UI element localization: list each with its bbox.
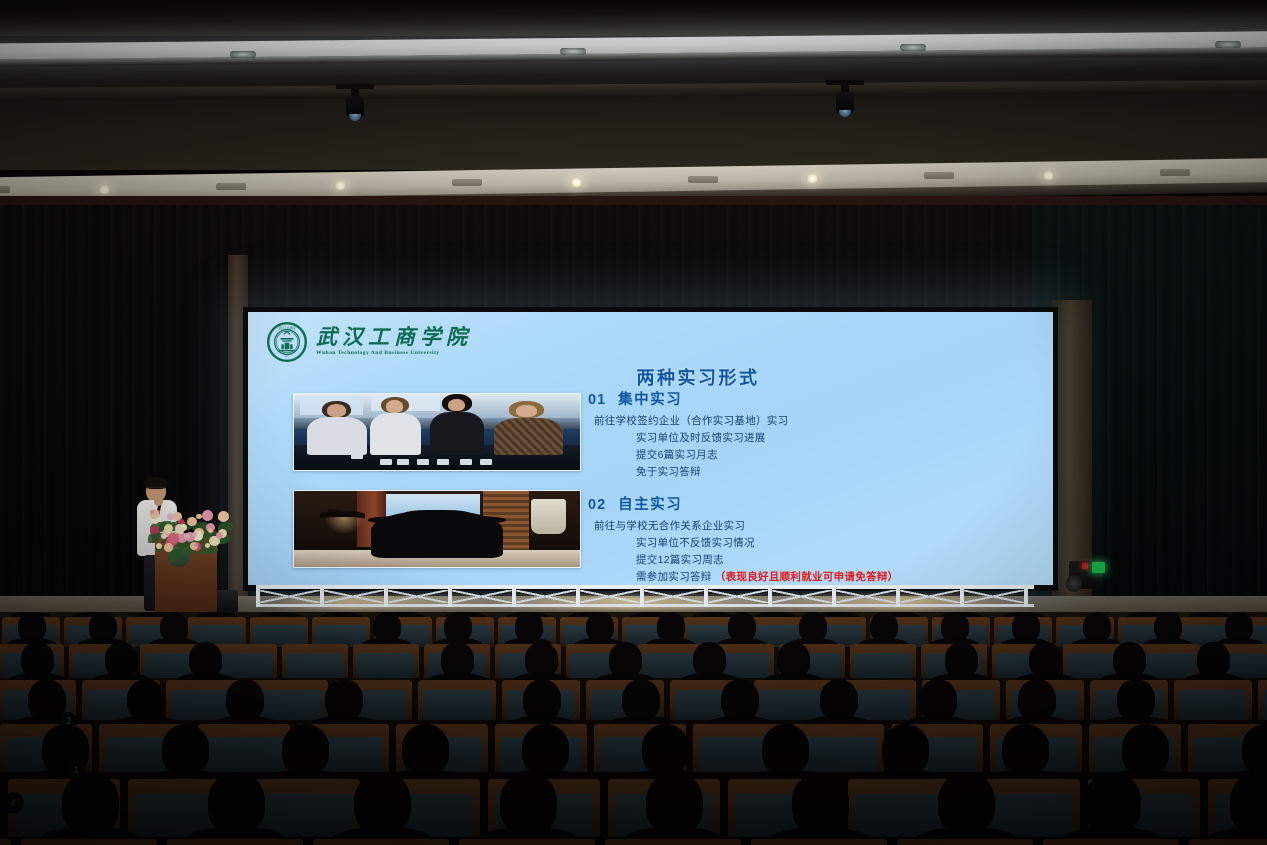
ceiling-vent	[688, 176, 718, 183]
audience-member-head	[21, 642, 54, 677]
audience-member-head	[162, 724, 209, 774]
projection-screen-frame: 武汉工商学院 1927 武汉工商学院 Wuhan Technology And …	[243, 307, 1058, 591]
audience-member-head	[354, 772, 411, 833]
audience-seat	[605, 839, 741, 845]
audience-member-head	[622, 679, 661, 720]
flower-blossom	[187, 517, 197, 527]
truss-brace	[834, 590, 896, 603]
audience-member-head	[777, 642, 810, 677]
audience-member-head	[522, 724, 569, 774]
audience-seat	[313, 839, 449, 845]
audience-member-head	[919, 679, 958, 720]
section-line: 免于实习答辩	[588, 464, 1045, 481]
flower-arrangement	[147, 505, 227, 553]
audience-member-head	[799, 612, 827, 641]
logo-cn-name: 武汉工商学院	[316, 327, 472, 348]
audience-member-head	[938, 772, 995, 833]
line-text: 需参加实习答辩	[636, 571, 712, 583]
line-text: 前往与学校无合作关系企业实习	[594, 520, 745, 532]
ceiling-recessed-light-icon	[230, 51, 256, 58]
section-line: 前往与学校无合作关系企业实习	[588, 518, 1045, 535]
section-line: 提交12篇实习周志	[588, 552, 1045, 569]
downlight-icon	[98, 185, 111, 194]
line-text: 前往学校签约企业（合作实习基地）实习	[594, 415, 788, 427]
audience-member-head	[728, 612, 756, 641]
slide-photo-desk	[293, 490, 581, 568]
section-line: 需参加实习答辩 （表现良好且顺利就业可申请免答辩）	[588, 569, 1045, 585]
audience-member-head	[282, 724, 329, 774]
glasses-icon	[147, 487, 165, 491]
audience-member-head	[1012, 612, 1040, 641]
slide-photo-students	[293, 393, 581, 471]
audience-member-head	[1117, 679, 1156, 720]
ceiling-mid-band	[0, 58, 1267, 170]
audience-member-head	[945, 642, 978, 677]
ceiling-recessed-light-icon	[560, 48, 586, 55]
flower-blossom	[164, 543, 172, 551]
slide-section: 01集中实习前往学校签约企业（合作实习基地）实习实习单位及时反馈实习进展提交6篇…	[588, 388, 1045, 481]
section-line: 前往学校签约企业（合作实习基地）实习	[588, 413, 1045, 430]
audience-member-head	[941, 612, 969, 641]
truss-brace	[322, 590, 384, 603]
section-number: 02	[588, 497, 606, 513]
audience-seat	[897, 839, 1033, 845]
audience-area: 214	[0, 612, 1267, 845]
truss-brace	[514, 590, 576, 603]
audience-member-head	[882, 724, 929, 774]
truss-post	[1024, 585, 1028, 607]
flower-blossom	[205, 543, 210, 548]
audience-seat	[167, 839, 303, 845]
audience-member-head	[441, 642, 474, 677]
spotlight-icon	[826, 80, 864, 120]
ceiling-recessed-light-icon	[900, 44, 926, 51]
ceiling-vent	[0, 186, 10, 193]
seat-number-badge: 4	[2, 792, 24, 814]
audience-member-head	[1122, 724, 1169, 774]
slide-title: 两种实习形式	[248, 364, 1053, 390]
audience-seat	[0, 839, 11, 845]
audience-member-head	[1225, 612, 1253, 641]
audience-member-head	[89, 612, 117, 641]
university-crest-icon: 武汉工商学院 1927	[267, 322, 307, 362]
seat-number-badge: 1	[66, 760, 86, 780]
audience-member-head	[792, 772, 849, 833]
truss-brace	[642, 590, 704, 603]
truss-brace	[898, 590, 960, 603]
audience-member-head	[762, 724, 809, 774]
flower-blossom	[196, 514, 201, 519]
line-text: 提交6篇实习月志	[636, 449, 718, 461]
truss-brace	[258, 590, 320, 603]
audience-member-head	[1029, 642, 1062, 677]
audience-member-head	[609, 642, 642, 677]
audience-member-head	[373, 612, 401, 641]
line-text: 提交12篇实习周志	[636, 554, 724, 566]
audience-member-head	[1084, 772, 1141, 833]
truss-brace	[578, 590, 640, 603]
audience-member-head	[325, 679, 364, 720]
audience-seat	[1043, 839, 1179, 845]
flower-blossom	[177, 526, 184, 533]
projection-screen: 武汉工商学院 1927 武汉工商学院 Wuhan Technology And …	[248, 312, 1053, 585]
audience-member-head	[127, 679, 166, 720]
audience-member-head	[500, 772, 557, 833]
truss-brace	[450, 590, 512, 603]
audience-member-head	[870, 612, 898, 641]
audience-member-head	[1113, 642, 1146, 677]
svg-text:1927: 1927	[285, 355, 291, 358]
line-text: 实习单位及时反馈实习进展	[636, 432, 766, 444]
auditorium-scene: 武汉工商学院 1927 武汉工商学院 Wuhan Technology And …	[0, 0, 1267, 845]
ceiling-vent	[216, 183, 246, 190]
audience-member-head	[657, 612, 685, 641]
truss-brace	[962, 590, 1024, 603]
section-header: 02自主实习	[588, 493, 1045, 514]
svg-text:武汉工商学院: 武汉工商学院	[279, 326, 296, 330]
audience-member-head	[28, 679, 67, 720]
audience-seat	[751, 839, 887, 845]
equipment-led-icon	[1082, 563, 1088, 569]
section-name: 集中实习	[618, 388, 682, 409]
audience-member-head	[642, 724, 689, 774]
audience-member-head	[18, 612, 46, 641]
slide-content: 01集中实习前往学校签约企业（合作实习基地）实习实习单位及时反馈实习进展提交6篇…	[588, 388, 1045, 585]
audience-seat	[21, 839, 157, 845]
flower-blossom	[202, 510, 213, 521]
flower-blossom	[168, 533, 178, 543]
downlight-icon	[1042, 171, 1055, 180]
flower-blossom	[184, 533, 190, 539]
audience-row	[0, 818, 1267, 845]
audience-member-head	[523, 679, 562, 720]
university-logo: 武汉工商学院 1927 武汉工商学院 Wuhan Technology And …	[267, 322, 472, 362]
section-header: 01集中实习	[588, 388, 1045, 409]
section-line: 实习单位及时反馈实习进展	[588, 430, 1045, 447]
wall-panel-right	[1052, 300, 1092, 600]
section-name: 自主实习	[618, 493, 682, 514]
line-highlight: （表现良好且顺利就业可申请免答辩）	[712, 571, 899, 583]
ceiling-dark-band	[0, 0, 1267, 36]
section-lines: 前往与学校无合作关系企业实习实习单位不反馈实习情况提交12篇实习周志需参加实习答…	[588, 518, 1045, 585]
section-lines: 前往学校签约企业（合作实习基地）实习实习单位及时反馈实习进展提交6篇实习月志免于…	[588, 413, 1045, 481]
flower-blossom	[164, 524, 173, 533]
audience-member-head	[586, 612, 614, 641]
truss-brace	[706, 590, 768, 603]
audience-member-head	[721, 679, 760, 720]
seat-number-badge: 2	[60, 712, 77, 729]
section-number: 01	[588, 392, 606, 408]
section-line: 实习单位不反馈实习情况	[588, 535, 1045, 552]
ceiling-vent	[924, 172, 954, 179]
ceiling-recessed-light-icon	[1215, 41, 1241, 48]
truss-brace	[770, 590, 832, 603]
audience-member-head	[444, 612, 472, 641]
audience-member-head	[1197, 642, 1230, 677]
flower-blossom	[156, 543, 162, 549]
audience-member-head	[208, 772, 265, 833]
line-text: 免于实习答辩	[636, 466, 701, 478]
ceiling-vent	[452, 179, 482, 186]
ceiling-vent	[1160, 169, 1190, 176]
audience-member-head	[525, 642, 558, 677]
audience-member-head	[189, 642, 222, 677]
audience-seat	[459, 839, 595, 845]
slide-section: 02自主实习前往与学校无合作关系企业实习实习单位不反馈实习情况提交12篇实习周志…	[588, 493, 1045, 585]
audience-seat	[1189, 839, 1267, 845]
audience-member-head	[402, 724, 449, 774]
audience-member-head	[62, 772, 119, 833]
audience-member-head	[1002, 724, 1049, 774]
audience-member-head	[160, 612, 188, 641]
audience-member-head	[1018, 679, 1057, 720]
section-line: 提交6篇实习月志	[588, 447, 1045, 464]
audience-member-head	[1154, 612, 1182, 641]
flower-blossom	[150, 526, 158, 534]
audience-member-head	[515, 612, 543, 641]
downlight-icon	[570, 178, 583, 187]
spotlight-icon	[336, 84, 374, 124]
floor-speaker	[1066, 575, 1082, 592]
flower-blossom	[208, 528, 213, 533]
audience-member-head	[105, 642, 138, 677]
audience-member-head	[226, 679, 265, 720]
exit-sign-icon	[1092, 562, 1105, 573]
stage-truss-railing	[256, 585, 1034, 609]
logo-en-name: Wuhan Technology And Business University	[316, 351, 472, 357]
audience-member-head	[820, 679, 859, 720]
truss-brace	[386, 590, 448, 603]
flower-blossom	[218, 511, 229, 522]
audience-member-head	[1083, 612, 1111, 641]
flower-leaf	[169, 552, 176, 561]
audience-member-head	[646, 772, 703, 833]
audience-member-head	[693, 642, 726, 677]
line-text: 实习单位不反馈实习情况	[636, 537, 755, 549]
